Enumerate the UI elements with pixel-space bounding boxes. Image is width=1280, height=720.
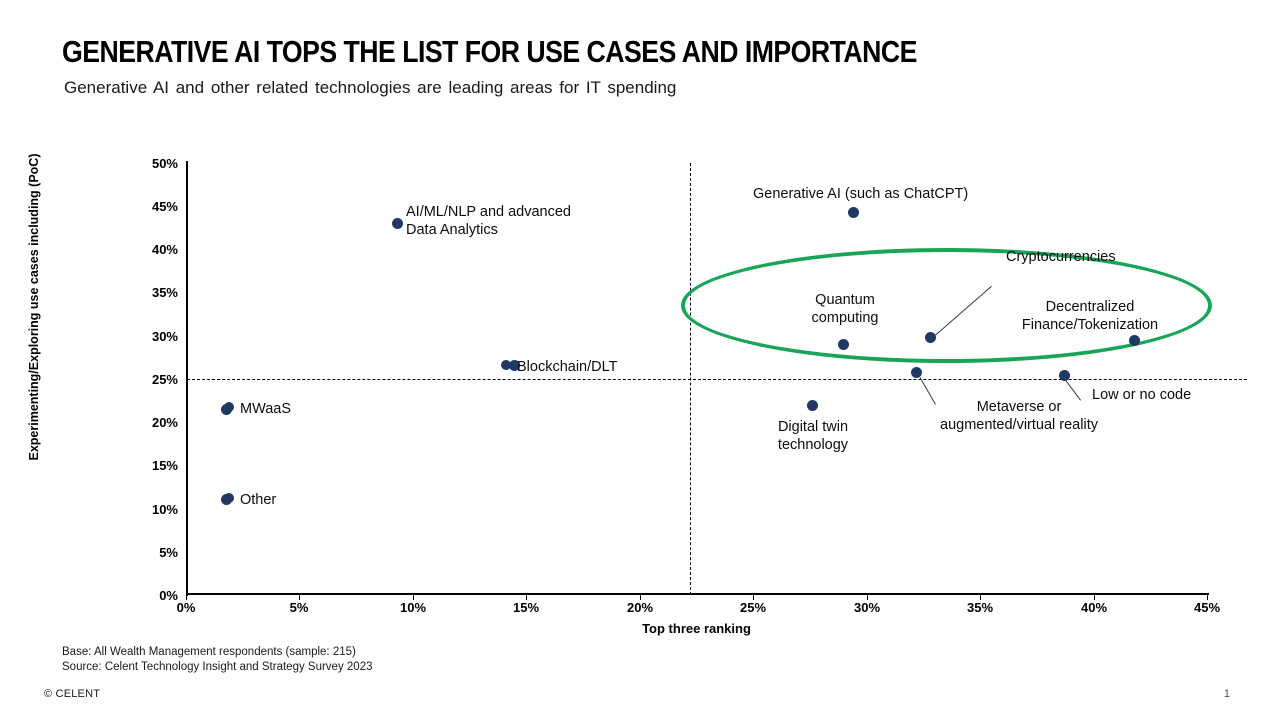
y-tick-15: 15% — [118, 459, 178, 472]
x-tick-20: 20% — [605, 600, 675, 615]
point-label-quantum-computing: Quantum computing — [780, 291, 910, 327]
point-label-metaverse: Metaverse or augmented/virtual reality — [930, 398, 1108, 434]
y-tick-45: 45% — [118, 200, 178, 213]
x-tick-40: 40% — [1059, 600, 1129, 615]
x-tick-0: 0% — [151, 600, 221, 615]
y-tick-25: 25% — [118, 373, 178, 386]
legend-dot-icon — [224, 402, 234, 412]
y-axis-title: Experimenting/Exploring use cases includ… — [27, 87, 41, 527]
page-title: GENERATIVE AI TOPS THE LIST FOR USE CASE… — [62, 34, 917, 70]
y-tick-35: 35% — [118, 286, 178, 299]
x-tick-25: 25% — [718, 600, 788, 615]
y-tick-30: 30% — [118, 330, 178, 343]
data-point-digital-twin[interactable] — [807, 400, 818, 411]
point-label-cryptocurrencies: Cryptocurrencies — [1006, 248, 1116, 266]
point-label-ai-ml-nlp: AI/ML/NLP and advanced Data Analytics — [406, 203, 571, 239]
footnote-base: Base: All Wealth Management respondents … — [62, 646, 356, 658]
slide-canvas: GENERATIVE AI TOPS THE LIST FOR USE CASE… — [0, 0, 1280, 720]
point-label-generative-ai: Generative AI (such as ChatCPT) — [753, 185, 968, 203]
x-tick-10: 10% — [378, 600, 448, 615]
y-tick-20: 20% — [118, 416, 178, 429]
footnotes: Base: All Wealth Management respondents … — [62, 645, 372, 675]
copyright-notice: © CELENT — [44, 688, 100, 700]
x-tick-5: 5% — [264, 600, 334, 615]
legend-dot-icon — [224, 493, 234, 503]
data-point-generative-ai[interactable] — [848, 207, 859, 218]
point-label-digital-twin: Digital twin technology — [748, 418, 878, 454]
point-label-other: Other — [224, 491, 276, 509]
y-tick-40: 40% — [118, 243, 178, 256]
data-point-quantum-computing[interactable] — [838, 339, 849, 350]
point-label-low-or-no-code: Low or no code — [1092, 386, 1191, 404]
legend-dot-icon — [501, 360, 511, 370]
quadrant-line-vertical — [690, 163, 691, 595]
data-point-decentralized-finance[interactable] — [1129, 335, 1140, 346]
x-axis-title: Top three ranking — [186, 621, 1207, 636]
x-tick-35: 35% — [945, 600, 1015, 615]
x-tick-45: 45% — [1172, 600, 1242, 615]
data-point-ai-ml-nlp[interactable] — [392, 218, 403, 229]
footnote-source: Source: Celent Technology Insight and St… — [62, 661, 372, 673]
x-tick-30: 30% — [832, 600, 902, 615]
quadrant-line-horizontal — [187, 379, 1247, 380]
y-tick-5: 5% — [118, 546, 178, 559]
point-label-mwaas: MWaaS — [224, 400, 291, 418]
x-axis-line — [186, 593, 1209, 595]
point-label-blockchain: Blockchain/DLT — [501, 358, 617, 376]
page-subtitle: Generative AI and other related technolo… — [64, 78, 676, 98]
y-tick-50: 50% — [118, 157, 178, 170]
y-tick-10: 10% — [118, 503, 178, 516]
point-label-decentralized-finance: Decentralized Finance/Tokenization — [995, 298, 1185, 334]
page-number: 1 — [1224, 688, 1230, 700]
x-tick-15: 15% — [491, 600, 561, 615]
